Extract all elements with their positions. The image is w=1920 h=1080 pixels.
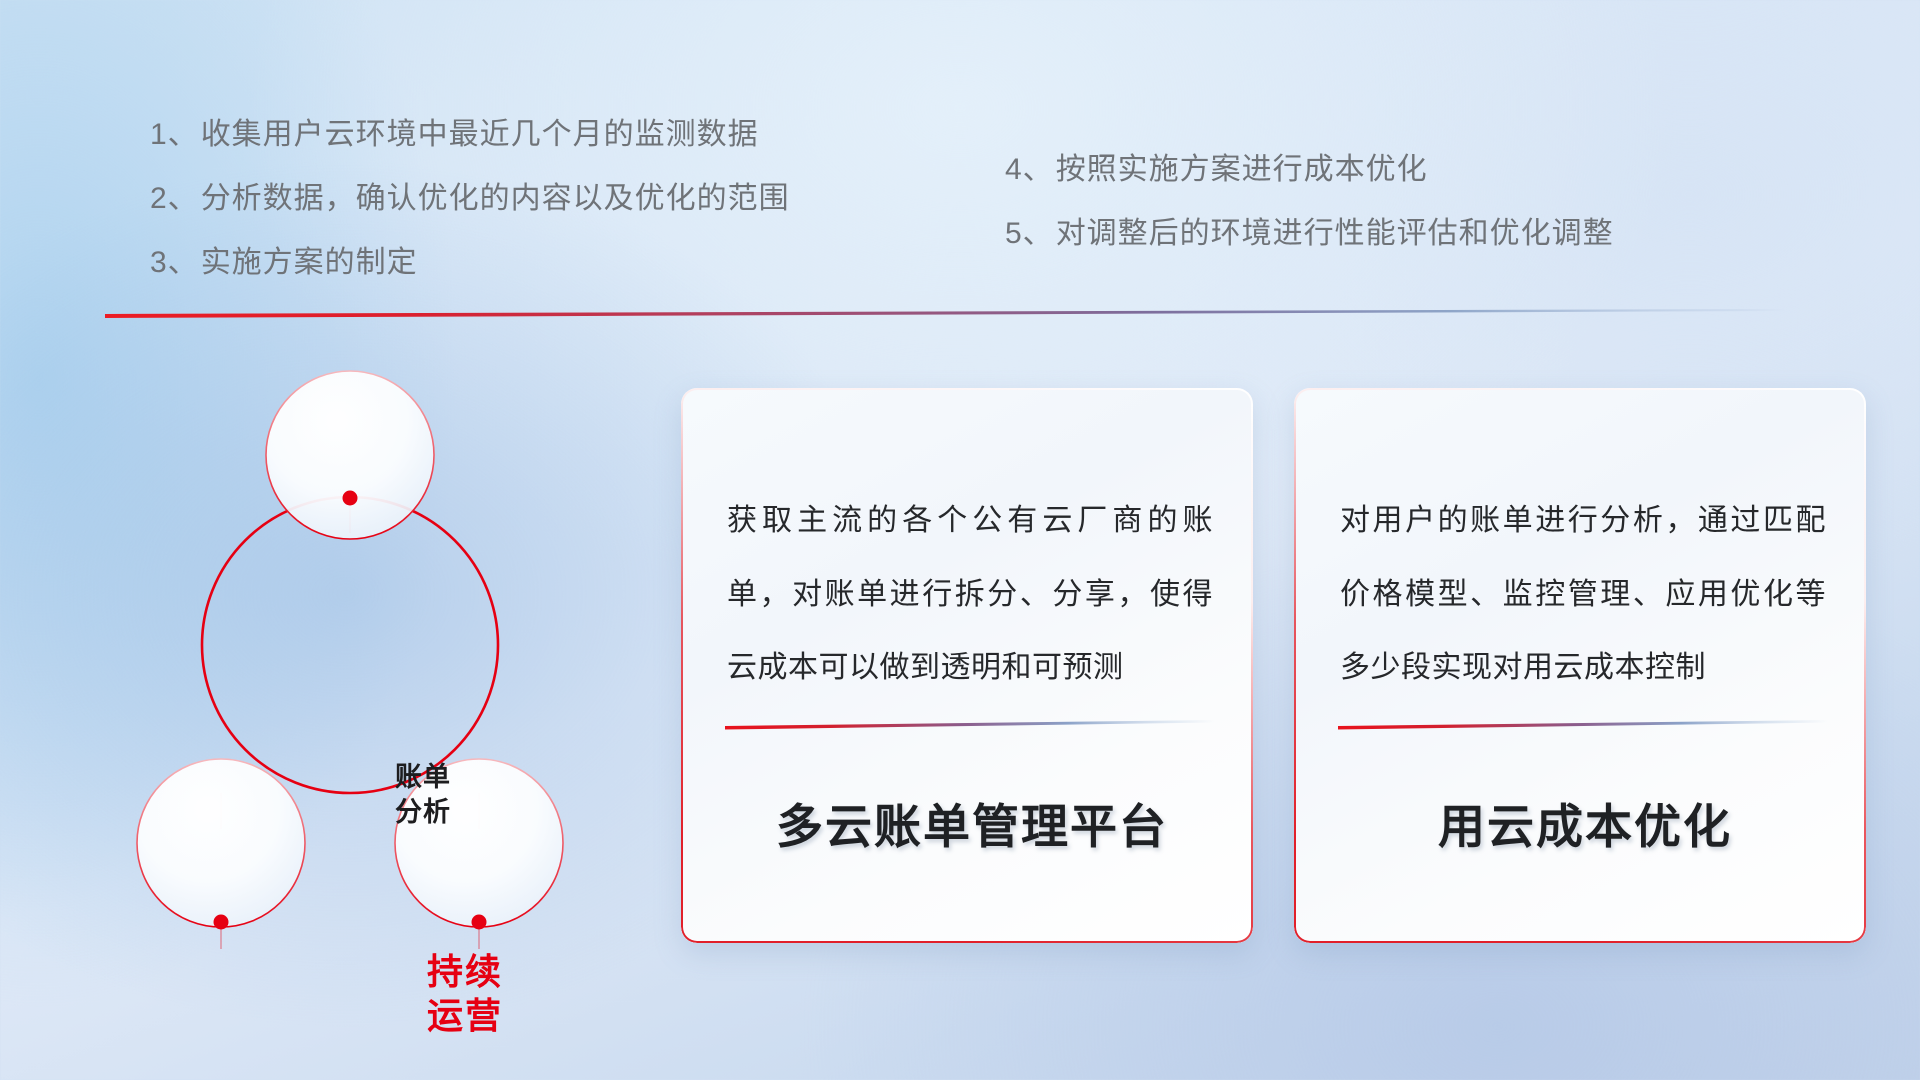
list-item-number: 4、 [1005,153,1054,186]
card-body-text: 对用户的账单进行分析，通过匹配价格模型、监控管理、应用优化等多少段实现对用云成本… [1340,484,1826,705]
list-item-label: 收集用户云环境中最近几个月的监测数据 [201,118,759,151]
list-item: 2、分析数据，确认优化的内容以及优化的范围 [150,184,790,214]
list-item-number: 3、 [150,246,199,279]
main-ring [202,497,498,793]
section-divider [105,305,1785,319]
list-item: 1、收集用户云环境中最近几个月的监测数据 [150,120,790,150]
card-body-text: 获取主流的各个公有云厂商的账单，对账单进行拆分、分享，使得云成本可以做到透明和可… [727,484,1213,705]
card-title: 多云账单管理平台 [725,788,1219,857]
list-item-label: 实施方案的制定 [201,246,418,279]
card-multi-cloud-billing-platform[interactable]: 获取主流的各个公有云厂商的账单，对账单进行拆分、分享，使得云成本可以做到透明和可… [681,388,1253,943]
list-item: 5、对调整后的环境进行性能评估和优化调整 [1005,219,1614,249]
list-item: 3、实施方案的制定 [150,248,790,278]
continuous-operations-diagram: 账单 分析 操作 运营 优化 策略 持续 运营 [95,355,655,955]
center-label-line2: 运营 [375,994,555,1038]
node-dot-top [343,491,358,506]
list-item-number: 1、 [150,118,199,151]
card-cloud-cost-optimization[interactable]: 对用户的账单进行分析，通过匹配价格模型、监控管理、应用优化等多少段实现对用云成本… [1294,388,1866,943]
list-item-number: 2、 [150,182,199,215]
list-item: 4、按照实施方案进行成本优化 [1005,155,1614,185]
list-item-number: 5、 [1005,217,1054,250]
steps-list-left: 1、收集用户云环境中最近几个月的监测数据 2、分析数据，确认优化的内容以及优化的… [150,120,790,312]
diagram-center-label: 持续 运营 [375,950,555,1038]
bubble-operations [137,759,305,927]
card-divider [1338,718,1828,730]
slide-canvas: 1、收集用户云环境中最近几个月的监测数据 2、分析数据，确认优化的内容以及优化的… [0,0,1920,1080]
center-label-line1: 持续 [375,950,555,994]
card-divider [725,718,1215,730]
bubble-billing-analysis [266,371,434,539]
list-item-label: 分析数据，确认优化的内容以及优化的范围 [201,182,790,215]
card-title: 用云成本优化 [1338,788,1832,857]
steps-list-right: 4、按照实施方案进行成本优化 5、对调整后的环境进行性能评估和优化调整 [1005,155,1614,283]
list-item-label: 按照实施方案进行成本优化 [1056,153,1428,186]
list-item-label: 对调整后的环境进行性能评估和优化调整 [1056,217,1614,250]
bubble-optimization-strategy [395,759,563,927]
